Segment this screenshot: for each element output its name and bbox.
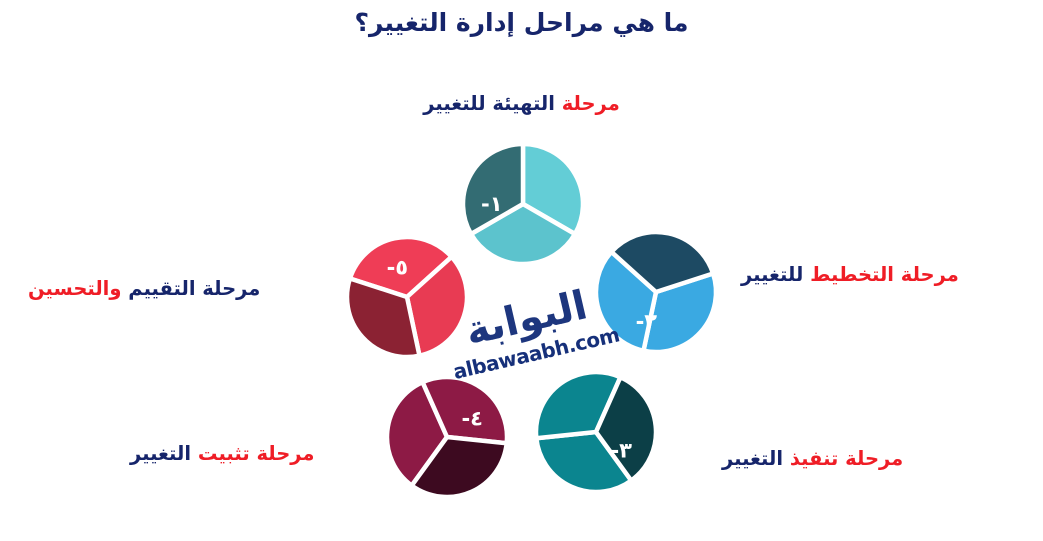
stage-label-3-part-2: التغيير bbox=[722, 447, 783, 470]
pie-2-number: ٢- bbox=[636, 310, 658, 334]
pie-4-number: ٤- bbox=[461, 407, 483, 431]
stage-label-1: مرحلة التهيئة للتغيير bbox=[0, 92, 1043, 115]
stage-label-5-part-2: والتحسين bbox=[28, 277, 122, 300]
pie-3-number: ٣- bbox=[610, 438, 632, 462]
pie-5-number: ٥- bbox=[387, 255, 409, 279]
stage-label-5: مرحلة التقييم والتحسين bbox=[28, 277, 260, 300]
pie-2[interactable]: ٢- bbox=[590, 226, 722, 358]
stage-label-4-part-1: مرحلة تثبيت bbox=[198, 442, 315, 465]
pie-4[interactable]: ٤- bbox=[381, 371, 513, 503]
stage-label-3: مرحلة تنفيذ التغيير bbox=[722, 447, 903, 470]
stage-label-2-part-2: للتغيير bbox=[741, 263, 803, 286]
pie-3[interactable]: ٣- bbox=[530, 366, 662, 498]
page-title: ما هي مراحل إدارة التغيير؟ bbox=[0, 8, 1043, 37]
infographic-canvas: ما هي مراحل إدارة التغيير؟ ١-٢-٣-٤-٥- مر… bbox=[0, 0, 1043, 541]
pie-5[interactable]: ٥- bbox=[341, 231, 473, 363]
stage-label-1-part-1: مرحلة bbox=[562, 92, 620, 115]
stage-label-3-part-1: مرحلة تنفيذ bbox=[790, 447, 903, 470]
pie-1-number: ١- bbox=[481, 192, 503, 216]
stage-label-1-part-2: التهيئة للتغيير bbox=[423, 92, 555, 115]
stage-label-2: مرحلة التخطيط للتغيير bbox=[741, 263, 959, 286]
stage-label-4: مرحلة تثبيت التغيير bbox=[130, 442, 315, 465]
stage-label-2-part-1: مرحلة التخطيط bbox=[810, 263, 959, 286]
stage-label-4-part-2: التغيير bbox=[130, 442, 191, 465]
pie-1[interactable]: ١- bbox=[457, 138, 589, 270]
stage-label-5-part-1: مرحلة التقييم bbox=[128, 277, 260, 300]
